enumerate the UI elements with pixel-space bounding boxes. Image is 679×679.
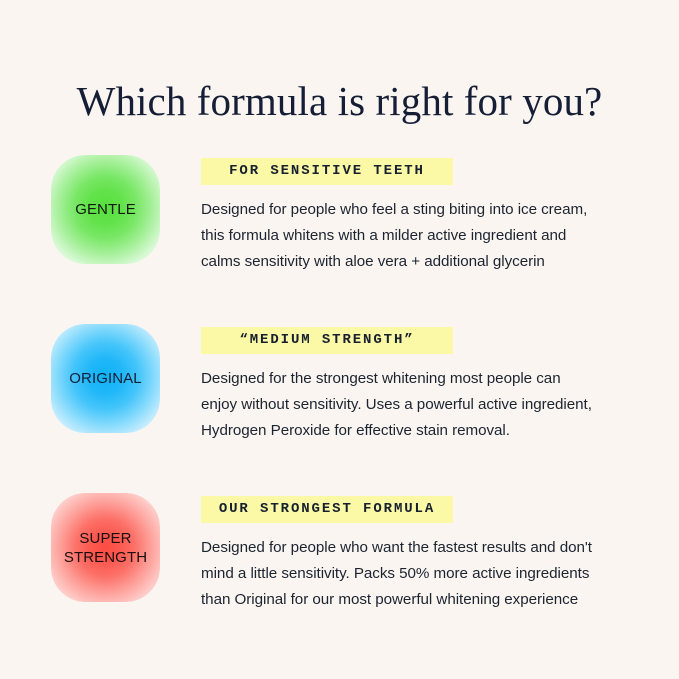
formula-tag-original: “MEDIUM STRENGTH” [201,327,453,354]
swatch-wrap-gentle: GENTLE [0,155,160,264]
swatch-label-original: ORIGINAL [69,369,141,388]
swatch-original[interactable]: ORIGINAL [51,324,160,433]
description-line: Hydrogen Peroxide for effective stain re… [201,418,631,444]
formula-row-gentle[interactable]: GENTLE FOR SENSITIVE TEETH Designed for … [0,155,679,324]
description-line: mind a little sensitivity. Packs 50% mor… [201,561,631,587]
formula-content-gentle: FOR SENSITIVE TEETH Designed for people … [160,155,679,290]
formula-content-original: “MEDIUM STRENGTH” Designed for the stron… [160,324,679,459]
swatch-wrap-super-strength: SUPER STRENGTH [0,493,160,602]
swatch-label-line-2: STRENGTH [64,549,147,566]
description-line: enjoy without sensitivity. Uses a powerf… [201,392,631,418]
formula-content-super-strength: OUR STRONGEST FORMULA Designed for peopl… [160,493,679,628]
formula-row-super-strength[interactable]: SUPER STRENGTH OUR STRONGEST FORMULA Des… [0,493,679,662]
description-line: than Original for our most powerful whit… [201,587,631,613]
swatch-gentle[interactable]: GENTLE [51,155,160,264]
description-line: Designed for people who feel a sting bit… [201,197,631,223]
formula-comparison-page: Which formula is right for you? GENTLE F… [0,0,679,679]
formula-tag-gentle: FOR SENSITIVE TEETH [201,158,453,185]
formula-description-gentle: Designed for people who feel a sting bit… [201,197,631,275]
formula-tag-super-strength: OUR STRONGEST FORMULA [201,496,453,523]
formula-row-original[interactable]: ORIGINAL “MEDIUM STRENGTH” Designed for … [0,324,679,493]
description-line: calms sensitivity with aloe vera + addit… [201,249,631,275]
formula-list: GENTLE FOR SENSITIVE TEETH Designed for … [0,155,679,662]
description-line: this formula whitens with a milder activ… [201,223,631,249]
swatch-super-strength[interactable]: SUPER STRENGTH [51,493,160,602]
swatch-label-super-strength: SUPER STRENGTH [64,529,147,567]
page-title: Which formula is right for you? [0,75,679,127]
swatch-label-line-1: SUPER [79,530,131,547]
swatch-label-gentle: GENTLE [75,200,136,219]
formula-description-super-strength: Designed for people who want the fastest… [201,535,631,613]
description-line: Designed for the strongest whitening mos… [201,366,631,392]
description-line: Designed for people who want the fastest… [201,535,631,561]
formula-description-original: Designed for the strongest whitening mos… [201,366,631,444]
swatch-wrap-original: ORIGINAL [0,324,160,433]
